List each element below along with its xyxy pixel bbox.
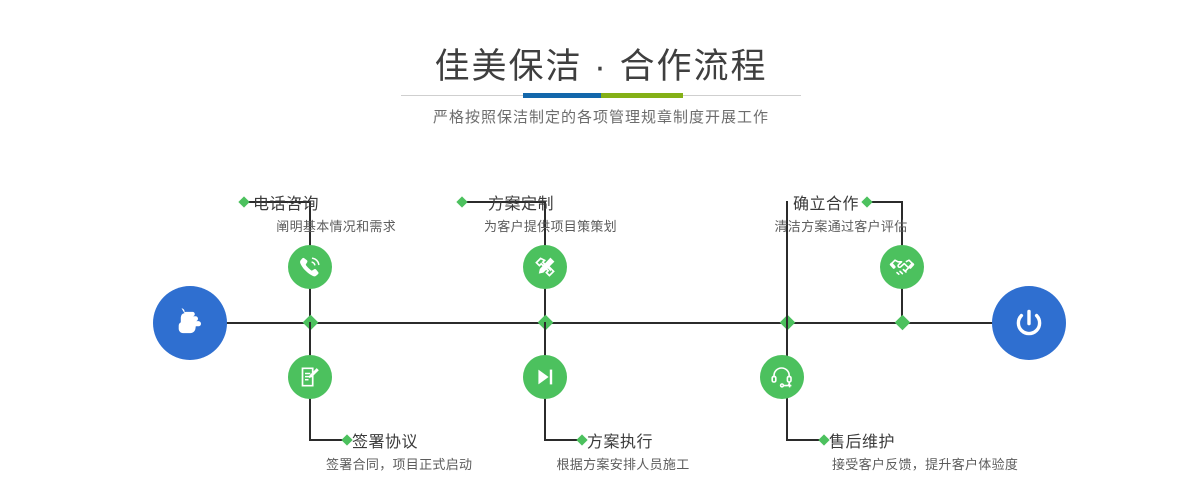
- label-marker-2: [341, 434, 352, 445]
- axis-marker-5b: [895, 315, 911, 331]
- step-icon-1[interactable]: [288, 245, 332, 289]
- step-desc-1: 阐明基本情况和需求: [276, 216, 396, 235]
- label-marker-5: [861, 196, 872, 207]
- step-title-1: 电话咨询: [253, 190, 319, 214]
- document-edit-icon: [297, 364, 323, 390]
- step-icon-3[interactable]: [523, 245, 567, 289]
- label-marker-4: [576, 434, 587, 445]
- step-desc-3: 为客户提供项目策策划: [484, 216, 617, 235]
- step-icon-6[interactable]: [760, 355, 804, 399]
- pencil-ruler-icon: [532, 254, 558, 280]
- step-desc-6: 接受客户反馈，提升客户体验度: [832, 454, 1018, 473]
- connector-horizontal-5: [868, 201, 903, 203]
- step-icon-5[interactable]: [880, 245, 924, 289]
- step-title-4: 方案执行: [587, 428, 653, 452]
- phone-call-icon: [297, 254, 323, 280]
- step-icon-4[interactable]: [523, 355, 567, 399]
- step-desc-4: 根据方案安排人员施工: [556, 454, 689, 473]
- label-marker-1: [238, 196, 249, 207]
- timeline-end-node: [992, 286, 1066, 360]
- step-desc-5: 清洁方案通过客户评估: [774, 216, 907, 235]
- play-skip-icon: [532, 364, 558, 390]
- step-icon-2[interactable]: [288, 355, 332, 399]
- step-desc-2: 签署合同，项目正式启动: [326, 454, 472, 473]
- step-title-2: 签署协议: [352, 428, 418, 452]
- process-flow-infographic: 佳美保洁 · 合作流程 严格按照保洁制定的各项管理规章制度开展工作: [0, 0, 1202, 502]
- pointing-hand-icon: [170, 303, 210, 343]
- power-button-icon: [1009, 303, 1049, 343]
- customer-service-icon: [769, 364, 795, 390]
- label-marker-6: [818, 434, 829, 445]
- label-marker-3: [456, 196, 467, 207]
- timeline-start-node: [153, 286, 227, 360]
- timeline: 电话咨询 阐明基本情况和需求 签署协议: [0, 0, 1202, 502]
- step-title-6: 售后维护: [829, 428, 895, 452]
- handshake-icon: [889, 254, 915, 280]
- step-title-5: 确立合作: [793, 190, 859, 214]
- step-title-3: 方案定制: [488, 190, 554, 214]
